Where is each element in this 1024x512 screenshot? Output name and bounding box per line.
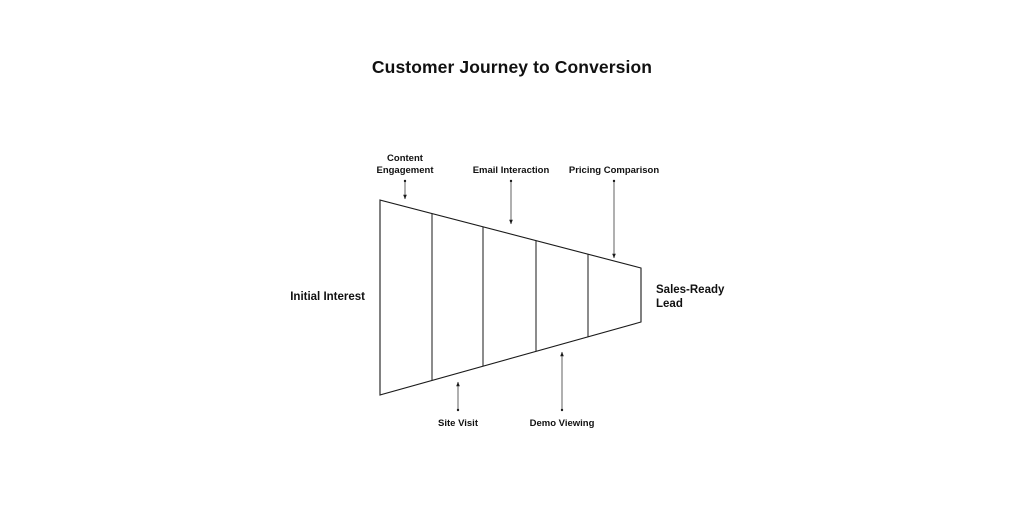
- funnel-exit-label-line: Lead: [656, 297, 724, 311]
- stage-label-line: Engagement: [376, 165, 433, 177]
- funnel-exit-label: Sales-Ready Lead: [656, 283, 724, 311]
- stage-label-demo-viewing: Demo Viewing: [530, 418, 595, 430]
- funnel-entry-label-line: Initial Interest: [290, 290, 365, 304]
- stage-label-line: Content: [376, 153, 433, 165]
- stage-label-line: Demo Viewing: [530, 418, 595, 430]
- funnel-exit-label-line: Sales-Ready: [656, 283, 724, 297]
- stage-label-line: Pricing Comparison: [569, 165, 659, 177]
- stage-label-pricing-comparison: Pricing Comparison: [569, 165, 659, 177]
- page-title: Customer Journey to Conversion: [0, 57, 1024, 78]
- stage-label-line: Email Interaction: [473, 165, 550, 177]
- funnel-dividers: [432, 214, 588, 381]
- stage-label-email-interaction: Email Interaction: [473, 165, 550, 177]
- funnel-entry-label: Initial Interest: [290, 290, 365, 304]
- stage-label-content-engagement: Content Engagement: [376, 153, 433, 176]
- stage-label-line: Site Visit: [438, 418, 478, 430]
- funnel-outline: [380, 200, 641, 395]
- funnel-body: [380, 200, 641, 395]
- stage-connector-arrows: [405, 181, 614, 410]
- stage-label-site-visit: Site Visit: [438, 418, 478, 430]
